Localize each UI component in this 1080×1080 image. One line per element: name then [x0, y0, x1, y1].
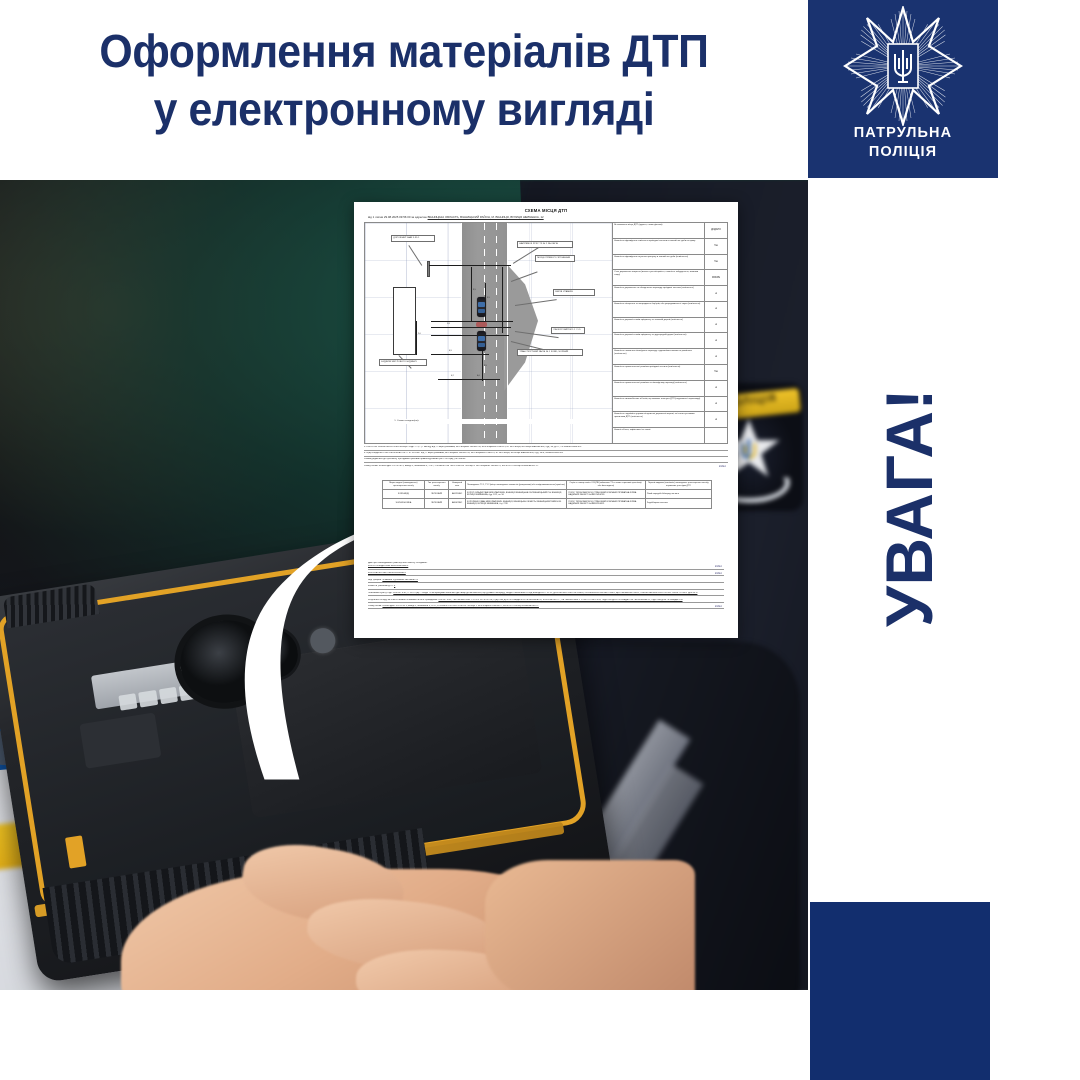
sketch-dimension-vert-2 [485, 283, 486, 321]
table-row: Встановлено місце ДТП (адреса, схема діл… [613, 223, 727, 239]
sketch-dimension-mid-2 [431, 327, 511, 328]
signature-glyph: підпис [719, 465, 726, 469]
bottom-note-0-value: КОРОП ВЛАДИСЛАВ МИКОЛАЙОВИЧ [368, 565, 408, 567]
table-row: Наявність дорожніх знаків пріоритету на … [613, 318, 727, 334]
mid-note-3: Схема додається до протоколу про адмініс… [364, 458, 728, 463]
sketch-dim-label-8: 2,5 [484, 365, 487, 367]
police-star-trident-logo [843, 6, 963, 126]
checklist-answer: ні [705, 412, 727, 427]
table-row: Наявність горизонтальної розмітки проїзд… [613, 365, 727, 381]
document-checklist-table[interactable]: Встановлено місце ДТП (адреса, схема діл… [613, 223, 727, 443]
checklist-question: Наявність горизонтальної розмітки проїзд… [613, 365, 705, 380]
bottom-note-2-label: Вид тріщини: [368, 579, 382, 581]
checklist-question: Наявність автомобільних об'єктів, що зав… [613, 397, 705, 412]
checklist-answer: Так [705, 239, 727, 254]
signature-glyph: підпис [715, 572, 722, 575]
table-row: Наявність наземного пішохідного переходу… [613, 349, 727, 365]
document-subline: від 1 липня 29.08.2025 09:56:00 за адрес… [368, 215, 724, 219]
bottom-note-6-label: Схему склав: [368, 605, 382, 607]
sketch-road-sign-pole [427, 261, 430, 277]
vehicle-col-header-5: Перелік видимих (зовнішніх) пошкоджень т… [645, 481, 711, 490]
document-main-block: 3,5 3,5 2,0 1,8 0,9 4,2 6,0 2,5 ДОРОЖНІЙ… [364, 222, 728, 444]
signature-glyph: підпис [715, 605, 722, 608]
sketch-callout-1: ДОРОЖНІЙ ЗНАК 5.35.1 [391, 235, 435, 242]
bottom-note-4-label: Пояснення пункту ПДР: [368, 592, 393, 594]
checklist-question: Наявність ліхтарного та загороджень бар'… [613, 302, 705, 317]
signature-glyph: підпис [715, 565, 722, 568]
vehicle-cell-1-4: ПОЛІС ТИП/НОМЕР/КОД СТРАХОВИЙ КОМПАНІЯ П… [567, 499, 646, 508]
checklist-question: Наявність відповідного штучного притулку… [613, 255, 705, 270]
checklist-answer: ні [705, 333, 727, 348]
checklist-answer: Так [705, 255, 727, 270]
page-title-line-2: у електронному вигляді [28, 80, 779, 138]
sketch-vehicle-2-rear-window [478, 343, 485, 347]
sketch-callout-4: ВИСІВ УЛАМКІВ [553, 289, 595, 296]
bottom-note-1: КОРОЛЕНКО ІВАН МИКОЛАЙОВИЧ підпис [368, 572, 724, 576]
sketch-dimension-top [429, 265, 511, 266]
attention-label: УВАГА! [876, 388, 942, 627]
checklist-question: Наявність дорожнього та обладнаного пере… [613, 286, 705, 301]
logo-caption-line-2: ПОЛІЦІЯ [808, 143, 998, 162]
poster-root: Оформлення матеріалів ДТП у електронному… [0, 0, 1080, 1080]
checklist-question: Наявність горизонтальної розмітки на піш… [613, 381, 705, 396]
table-row: Наявність відповідного освітлення проїзд… [613, 239, 727, 255]
page-title-line-1: Оформлення матеріалів ДТП [28, 22, 779, 80]
bottom-note-4-value: КОРОП В.М., п. 12.3 ПДР – Водій ТЗ не вр… [393, 592, 697, 594]
bottom-blue-block [810, 902, 990, 1080]
checklist-answer: ні [705, 349, 727, 364]
sketch-dimension-bottom [438, 379, 500, 380]
sketch-dimension-low [431, 354, 489, 355]
vehicle-cell-0-2: АВ1234ВС [449, 490, 465, 499]
document-title: СХЕМА МІСЦЯ ДТП [354, 208, 738, 213]
checklist-answer: ні [705, 397, 727, 412]
sketch-lane-marking-2 [496, 223, 497, 443]
sketch-dimension-mid-1 [431, 321, 513, 322]
sketch-callout-2: НАПРЯМОК РУХУ ТЗ № 2 ЗА ОБГІН [517, 241, 573, 248]
table-row: Наявність автомобільних об'єктів, що зав… [613, 397, 727, 413]
mid-note-1: 1. КОРОТКА ХАРАКТЕРИСТИКА МІСЦЯ ПОДІЇ — … [364, 446, 728, 451]
vehicle-cell-0-0: FORD/АУДІ [383, 490, 425, 499]
document-bottom-notes: Дані про пошкодження транспортного засоб… [368, 562, 724, 612]
vehicle-cell-1-2: АВ5678ВС [449, 499, 465, 508]
vehicle-cell-1-5: Задній/права частина [645, 499, 711, 508]
table-row: SUZUKI/HONDA ЛЕГКОВИЙ АВ5678ВС КОРОЛЕНКО… [383, 499, 712, 508]
vehicle-col-header-4: Серія та номер поліса ОСЦПВ (найменше ТЗ… [567, 481, 646, 490]
sketch-vehicle-1-rear-window [478, 309, 485, 313]
vehicle-cell-0-5: Лівий передній бік/перед частина [645, 490, 711, 499]
bottom-note-3-label: Кількість учасників ДТП: [368, 585, 393, 587]
vehicle-cell-1-0: SUZUKI/HONDA [383, 499, 425, 508]
checklist-answer: ні [705, 318, 727, 333]
table-row: FORD/АУДІ ЛЕГКОВИЙ АВ1234ВС КОРОП. ВЛАДИ… [383, 490, 712, 499]
vehicle-col-header-0: Марка моделі (пошкодження) транспортного… [383, 481, 425, 490]
sketch-dim-label-5: 0,9 [449, 350, 452, 352]
vehicle-cell-0-4: ПОЛІС ТИП/НОМЕР/КОД СТРАХОВИЙ КОМПАНІЯ П… [567, 490, 646, 499]
vehicle-col-header-2: Номерний знак [449, 481, 465, 490]
header-bar: Оформлення матеріалів ДТП у електронному… [0, 0, 1080, 178]
vehicle-cell-1-3: КОРОЛЕНКО ІВАН МИКОЛАЙОВИЧ, ВІННИЦЯ, ВІН… [465, 499, 566, 508]
checklist-answer: МОКРЕ [705, 270, 727, 285]
sketch-road-edge-right [507, 223, 508, 443]
table-header-row: Марка моделі (пошкодження) транспортного… [383, 481, 712, 490]
bottom-note-0: КОРОП ВЛАДИСЛАВ МИКОЛАЙОВИЧ підпис [368, 565, 724, 569]
sketch-dimension-vert-1 [471, 267, 472, 321]
checklist-question: Встановлено місце ДТП (адреса, схема діл… [613, 223, 705, 238]
sketch-building-block [393, 287, 416, 355]
table-row: Наявність дорожніх знаків пріоритету на … [613, 333, 727, 349]
accident-sketch[interactable]: 3,5 3,5 2,0 1,8 0,9 4,2 6,0 2,5 ДОРОЖНІЙ… [365, 223, 613, 443]
logo-caption: ПАТРУЛЬНА ПОЛІЦІЯ [808, 124, 998, 162]
checklist-answer: ні [705, 286, 727, 301]
table-row: Стан дорожнього покриття (вологе суха мі… [613, 270, 727, 286]
bottom-note-6: Схему склав: КОМАНДИР РОТИ № 1, взвод 2,… [368, 605, 724, 609]
checklist-answer: ДОДАНО [705, 223, 727, 238]
vehicle-cell-1-1: ЛЕГКОВИЙ [424, 499, 449, 508]
logo-caption-line-1: ПАТРУЛЬНА [808, 124, 998, 143]
document-mid-notes: 1. КОРОТКА ХАРАКТЕРИСТИКА МІСЦЯ ПОДІЇ — … [364, 446, 728, 470]
table-row: Наявність дорожнього та обладнаного пере… [613, 286, 727, 302]
bottom-note-4: Пояснення пункту ПДР: КОРОП В.М., п. 12.… [368, 592, 724, 596]
sketch-dim-label-2: 3,5 [487, 297, 490, 299]
checklist-question: Стан дорожнього покриття (вологе суха мі… [613, 270, 705, 285]
sketch-dim-label-7: 6,0 [477, 375, 480, 377]
sketch-vehicle-2-windshield [478, 336, 485, 341]
table-row: Наявність горизонтальної розмітки на піш… [613, 381, 727, 397]
sketch-callout-7: БУДІВЛЯ ЖИТЛОВОГО БУДИНКУ [379, 359, 427, 366]
vehicle-col-header-3: Пошкоджено ТЗ 1, ТЗ 2 (місце пошкоджень … [465, 481, 566, 490]
mid-note-4-text: Схему склав: КОМАНДИР РОТИ № 1, взвод 2,… [364, 465, 538, 467]
sketch-callout-6: ТРАНСПОРТНИЙ ЗАСІБ № 1 FORD, ЧОРНИЙ [517, 349, 583, 356]
sketch-vehicle-1-windshield [478, 302, 485, 307]
table-row: Наявність ліхтарного та загороджень бар'… [613, 302, 727, 318]
bottom-note-5-label: Результати огляду на стан сп'яніння та н… [368, 599, 438, 601]
bottom-note-5: Результати огляду на стан сп'яніння та н… [368, 599, 724, 603]
bottom-note-2: Вид тріщини: зіткнення з ділянкою частин… [368, 579, 724, 583]
bottom-note-5-value: КОРОП В.М., НЕ ПЕРЕБУВАВ У СТАНІ СП'ЯНІН… [438, 599, 682, 601]
mid-note-4: Схему склав: КОМАНДИР РОТИ № 1, взвод 2,… [364, 465, 728, 469]
page-title: Оформлення матеріалів ДТП у електронному… [28, 22, 779, 138]
sketch-vehicle-2 [477, 331, 486, 351]
sketch-dim-label-1: 3,5 [473, 289, 476, 291]
checklist-question: Наявність недоліків в утриманні вуличної… [613, 412, 705, 427]
checklist-question: Наявність дорожніх знаків пріоритету на … [613, 333, 705, 348]
sketch-dim-label-3: 2,0 [418, 333, 421, 335]
sketch-dimension-vert-5 [482, 351, 483, 381]
checklist-answer: Так [705, 365, 727, 380]
sketch-dim-label-4: 1,8 [447, 323, 450, 325]
sketch-dimension-vert-4 [416, 321, 417, 355]
sketch-dimension-mid-3 [431, 335, 509, 336]
bottom-note-1-value: КОРОЛЕНКО ІВАН МИКОЛАЙОВИЧ [368, 572, 406, 574]
sketch-dim-label-6: 4,2 [451, 375, 454, 377]
vehicle-cell-0-3: КОРОП. ВЛАДИСЛАВ МИКОЛАЙОВИЧ, ВІННИЦЯ ВІ… [465, 490, 566, 499]
sketch-callout-3: МІСЦЕ ПРЯМОГО ЗІТКНЕННЯ [535, 255, 575, 262]
bottom-note-3-value: 2 [394, 585, 395, 587]
vehicle-details-table[interactable]: Марка моделі (пошкодження) транспортного… [382, 480, 712, 509]
logo-panel: ПАТРУЛЬНА ПОЛІЦІЯ [808, 0, 998, 178]
sketch-callout-5: ЛІНІЯ РОЗМІТКИ 1.1 / 1.5 [551, 327, 585, 334]
bottom-note-2-value: зіткнення з ділянкою частиною ТЗ [382, 579, 418, 581]
checklist-answer: ні [705, 302, 727, 317]
sketch-footnote-1: 1. Схема складена(на): [393, 419, 607, 424]
checklist-question: Наявність відповідного освітлення проїзд… [613, 239, 705, 254]
table-row: Наявні об'єкти, зафіксовані на схемі: [613, 428, 727, 443]
sketch-road-edge-left [461, 223, 462, 443]
document-subline-value: ВІННИЦЬКА ОБЛАСТЬ, ВІННИЦЬКИЙ РАЙОН, М. … [428, 215, 544, 219]
sketch-dimension-vert-3 [502, 267, 503, 333]
document-subline-prefix: від 1 липня 29.08.2025 09:56:00 за адрес… [368, 215, 427, 219]
table-row: Наявність відповідного штучного притулку… [613, 255, 727, 271]
dtp-scheme-document[interactable]: СХЕМА МІСЦЯ ДТП від 1 липня 29.08.2025 0… [354, 202, 738, 638]
bottom-note-6-value: КОМАНДИР РОТИ № 1, взвод 2, батальйон 1,… [382, 605, 538, 607]
checklist-answer: ні [705, 381, 727, 396]
checklist-answer [705, 428, 727, 443]
checklist-question: Наявність дорожніх знаків пріоритету на … [613, 318, 705, 333]
mid-note-2: 2. ВІДПОВІДАЛЬНІ ЗА ОФОРМЛЕННЯ — 07.12.1… [364, 452, 728, 457]
checklist-question: Наявність наземного пішохідного переходу… [613, 349, 705, 364]
vehicle-cell-0-1: ЛЕГКОВИЙ [424, 490, 449, 499]
tablet-dark-label [79, 712, 161, 769]
vehicle-col-header-1: Тип транспортного засобу [424, 481, 449, 490]
photo-bottom-whitespace [0, 990, 810, 1080]
table-row: Наявність недоліків в утриманні вуличної… [613, 412, 727, 428]
officer-wrist [485, 860, 695, 990]
checklist-question: Наявні об'єкти, зафіксовані на схемі: [613, 428, 705, 443]
bottom-note-3: Кількість учасників ДТП: 2 [368, 585, 724, 589]
